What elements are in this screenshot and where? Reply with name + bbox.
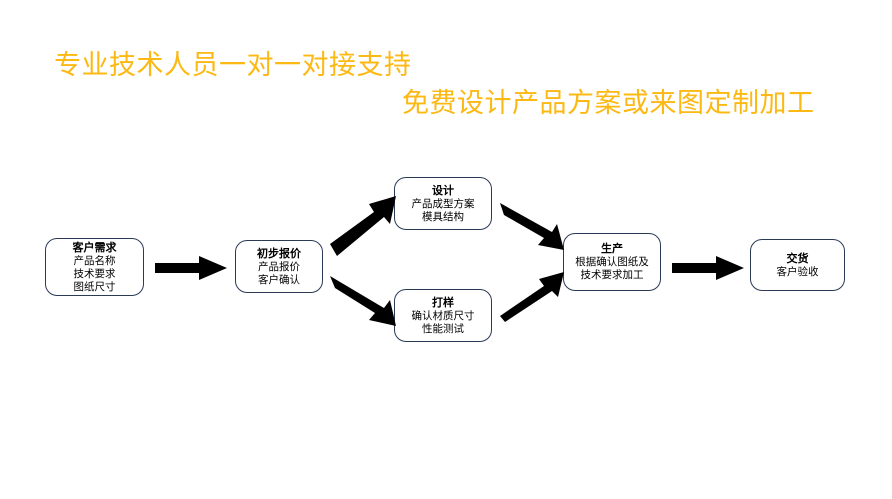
flow-node-delivery-line-1: 客户验收 bbox=[777, 266, 819, 279]
headline-primary: 专业技术人员一对一对接支持 bbox=[54, 50, 412, 82]
connector-sample-to-produce-arrow-icon bbox=[500, 272, 566, 324]
flow-node-design-line-2: 模具结构 bbox=[422, 211, 464, 224]
flow-node-delivery-title: 交货 bbox=[787, 252, 809, 266]
flow-node-demand: 客户需求 产品名称 技术要求 图纸尺寸 bbox=[45, 238, 144, 296]
flow-node-sample-line-1: 确认材质尺寸 bbox=[412, 310, 475, 323]
headline-secondary: 免费设计产品方案或来图定制加工 bbox=[402, 88, 815, 120]
flow-node-quote-title: 初步报价 bbox=[257, 247, 301, 261]
flow-node-quote-line-1: 产品报价 bbox=[258, 261, 300, 274]
flow-node-produce-line-1: 根据确认图纸及 bbox=[575, 256, 649, 269]
connector-demand-to-quote-arrow-icon bbox=[155, 256, 227, 280]
flow-node-quote-line-2: 客户确认 bbox=[258, 274, 300, 287]
flow-node-delivery: 交货 客户验收 bbox=[750, 239, 845, 291]
flow-node-demand-title: 客户需求 bbox=[73, 241, 117, 255]
flow-node-design-title: 设计 bbox=[432, 184, 454, 198]
flow-node-produce: 生产 根据确认图纸及 技术要求加工 bbox=[563, 233, 661, 291]
flow-node-produce-title: 生产 bbox=[601, 242, 623, 256]
flow-node-design: 设计 产品成型方案 模具结构 bbox=[394, 177, 492, 230]
flow-node-sample: 打样 确认材质尺寸 性能测试 bbox=[394, 289, 492, 342]
connector-produce-to-delivery-arrow-icon bbox=[672, 256, 744, 280]
slide-canvas: 专业技术人员一对一对接支持 免费设计产品方案或来图定制加工 客户需求 产品名称 … bbox=[0, 0, 892, 499]
flow-node-produce-line-2: 技术要求加工 bbox=[581, 269, 644, 282]
connector-quote-to-sample-arrow-icon bbox=[330, 272, 398, 328]
connector-design-to-produce-arrow-icon bbox=[500, 200, 566, 252]
flow-node-sample-line-2: 性能测试 bbox=[422, 323, 464, 336]
flow-node-demand-line-3: 图纸尺寸 bbox=[74, 281, 116, 294]
flow-node-demand-line-1: 产品名称 bbox=[74, 255, 116, 268]
flow-node-quote: 初步报价 产品报价 客户确认 bbox=[235, 240, 323, 293]
connector-quote-to-design-arrow-icon bbox=[330, 196, 398, 258]
flow-node-design-line-1: 产品成型方案 bbox=[412, 198, 475, 211]
flow-node-sample-title: 打样 bbox=[432, 296, 454, 310]
flow-node-demand-line-2: 技术要求 bbox=[74, 268, 116, 281]
